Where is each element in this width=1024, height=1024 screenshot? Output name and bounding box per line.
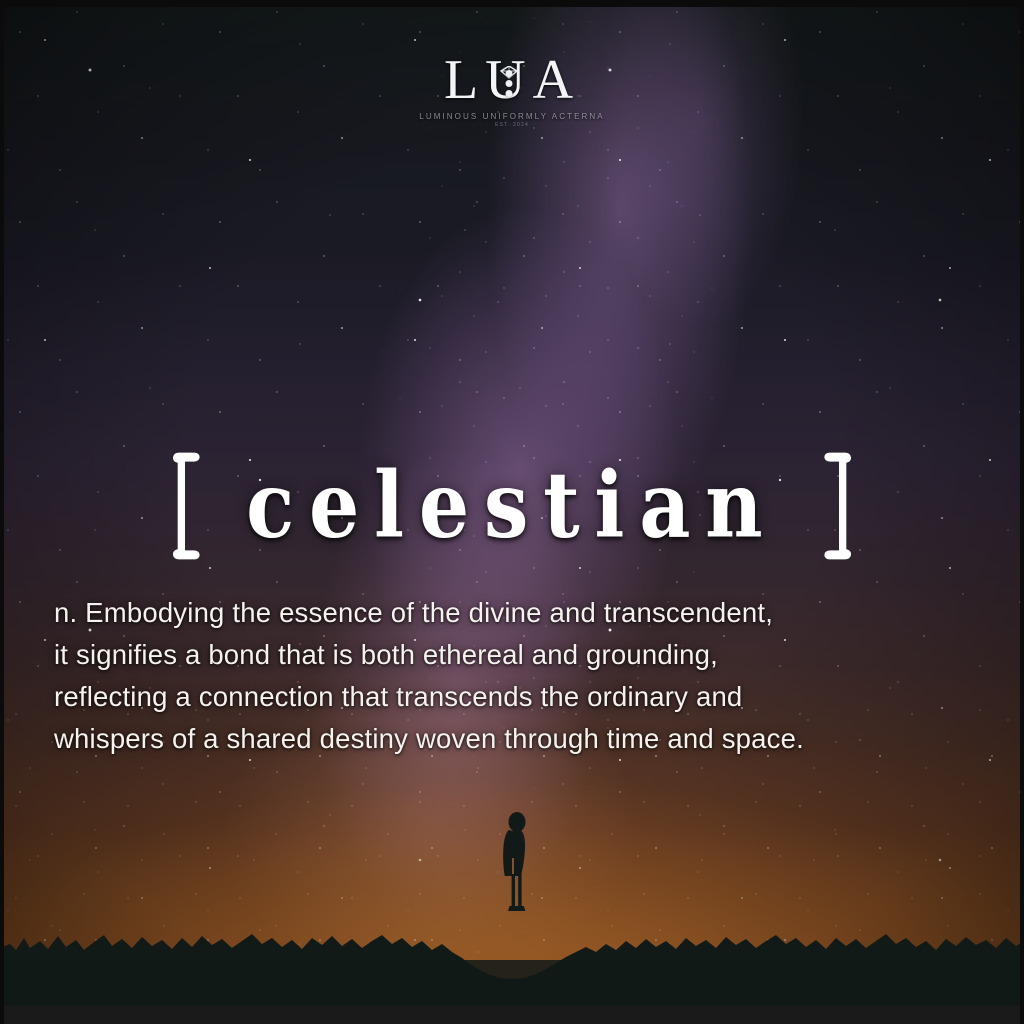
letterbox-bottom [0,1006,1024,1024]
definition-block: n. Embodying the essence of the divine a… [54,592,954,760]
definition-line: n. Embodying the essence of the divine a… [54,592,954,634]
logo-wordmark: L UA [444,52,580,108]
logo-mark: L UA LUMINOUS UNIFORMLY ACTERNA EST. 202… [419,52,604,128]
letterbox-top [0,0,1024,7]
close-bracket-icon [819,452,863,560]
logo-tagline: LUMINOUS UNIFORMLY ACTERNA [419,113,604,121]
brand-logo[interactable]: L UA LUMINOUS UNIFORMLY ACTERNA EST. 202… [0,52,1024,131]
poster-canvas: L UA LUMINOUS UNIFORMLY ACTERNA EST. 202… [0,0,1024,1024]
logo-tagline-secondary: EST. 2024 [419,123,604,128]
open-bracket-icon [161,452,205,560]
logo-letter-u-group: U [485,52,532,108]
beads-icon [505,70,512,97]
definition-line: it signifies a bond that is both etherea… [54,634,954,676]
logo-letter-a: A [533,49,580,111]
definition-line: reflecting a connection that transcends … [54,676,954,718]
definition-line: whispers of a shared destiny woven throu… [54,718,954,760]
letterbox-left [0,0,4,1024]
letterbox-right [1020,0,1024,1024]
headword-row: celestian [0,452,1024,560]
headword-text: celestian [246,460,777,551]
logo-letter-l: L [444,49,485,111]
